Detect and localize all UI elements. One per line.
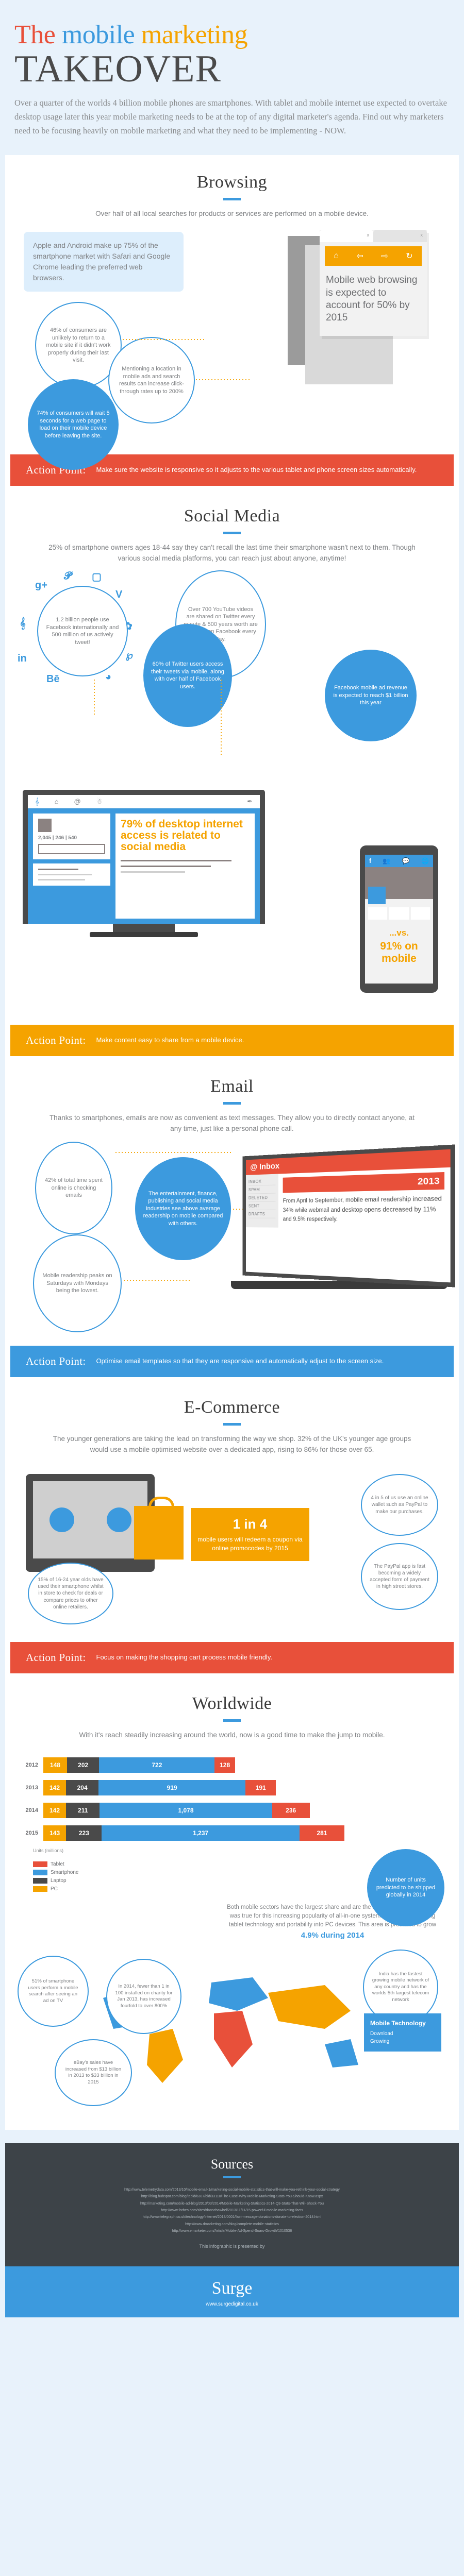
facebook-f-icon: f bbox=[369, 857, 371, 865]
twitter-sidebar: 2,045 | 246 | 540 bbox=[33, 814, 110, 919]
divider-rule bbox=[223, 532, 241, 534]
legend-swatch bbox=[33, 1878, 47, 1884]
source-item[interactable]: http://blog.hubspot.com/blog/tabid/6307/… bbox=[23, 2193, 441, 2200]
chart-row: 2013142204919191 bbox=[21, 1780, 443, 1795]
monitor-screen: 𝄞 ⌂ @ ☃ ✒ 2,045 | 246 | 540 bbox=[28, 795, 260, 924]
page-title: The mobile marketing bbox=[14, 20, 450, 50]
social-subtitle: 25% of smartphone owners ages 18-44 say … bbox=[46, 543, 418, 564]
messages-icon[interactable]: 💬 bbox=[402, 857, 410, 865]
linkedin-icon: in bbox=[18, 653, 27, 665]
mobile-social-stat: ...vs. 91% on mobile bbox=[365, 923, 433, 973]
bubble-industries: The entertainment, finance, publishing a… bbox=[135, 1157, 231, 1260]
chart-year-label: 2014 bbox=[21, 1807, 43, 1814]
chart-segment-mobile-phone: 1,237 bbox=[102, 1825, 299, 1841]
section-ecommerce: E-Commerce The younger generations are t… bbox=[5, 1380, 459, 1676]
action-text: Focus on making the shopping cart proces… bbox=[96, 1653, 273, 1663]
monitor-base bbox=[90, 932, 198, 937]
connector-dots bbox=[221, 679, 222, 756]
vimeo-icon: V bbox=[115, 589, 122, 601]
trend-line bbox=[38, 869, 78, 870]
inbox-folders: INBOX SPAM DELETED SENT DRAFTS bbox=[246, 1174, 278, 1228]
divider-rule bbox=[223, 2176, 241, 2178]
avatar bbox=[368, 887, 386, 904]
chart-year-label: 2013 bbox=[21, 1785, 43, 1791]
section-email: Email Thanks to smartphones, emails are … bbox=[5, 1059, 459, 1380]
compose-icon[interactable]: ✒ bbox=[247, 798, 253, 806]
email-title: Email bbox=[5, 1077, 459, 1096]
twitter-content: 2,045 | 246 | 540 79% of de bbox=[28, 808, 260, 924]
email-subtitle: Thanks to smartphones, emails are now as… bbox=[46, 1113, 418, 1134]
action-text: Optimise email templates so that they ar… bbox=[96, 1357, 384, 1366]
pinterest-p-icon: ℘ bbox=[126, 649, 133, 662]
folder-inbox[interactable]: INBOX bbox=[248, 1177, 276, 1186]
avatar bbox=[107, 1507, 131, 1532]
divider-rule bbox=[223, 1423, 241, 1426]
bubble-charity-donations: In 2014, fewer than 1 in 100 installed o… bbox=[106, 1959, 181, 2034]
callout-text: mobile users will redeem a coupon via on… bbox=[197, 1535, 303, 1553]
action-point-social: Action Point: Make content easy to share… bbox=[10, 1025, 454, 1056]
feed-line bbox=[121, 860, 231, 861]
camera-button[interactable] bbox=[389, 907, 408, 920]
brand-url[interactable]: www.surgedigital.co.uk bbox=[15, 2301, 449, 2307]
chart-segment-tablet: 236 bbox=[272, 1803, 310, 1818]
ecommerce-heading: E-Commerce The younger generations are t… bbox=[5, 1380, 459, 1455]
mt-row-label: Growing bbox=[370, 2039, 389, 2044]
header: The mobile marketing TAKEOVER Over a qua… bbox=[0, 0, 464, 155]
sources-footer: This infographic is presented by bbox=[23, 2244, 441, 2249]
legend-swatch bbox=[33, 1886, 47, 1892]
chart-segment-mobile-phone: 722 bbox=[99, 1757, 214, 1773]
browser-share-note: Apple and Android make up 75% of the sma… bbox=[24, 232, 184, 292]
chart-segment-ultramobile: 204 bbox=[66, 1780, 98, 1795]
friends-button[interactable] bbox=[411, 907, 430, 920]
bubble-51-percent: 51% of smartphone users perform a mobile… bbox=[18, 1956, 89, 2027]
mt-row: Growing bbox=[370, 2038, 435, 2045]
phone-screen: f 👥 💬 🌐 ...vs. 91% bbox=[365, 855, 433, 984]
sources-title: Sources bbox=[23, 2157, 441, 2172]
monitor-stand bbox=[113, 924, 175, 932]
feed-line bbox=[121, 871, 185, 873]
friends-icon[interactable]: 👥 bbox=[383, 857, 390, 865]
brand-footer: Surge www.surgedigital.co.uk bbox=[5, 2266, 459, 2317]
device-comparison: 𝄞 ⌂ @ ☃ ✒ 2,045 | 246 | 540 bbox=[5, 790, 459, 1011]
intro-paragraph: Over a quarter of the worlds 4 billion m… bbox=[14, 96, 448, 138]
callout-1-in-4: 1 in 4 mobile users will redeem a coupon… bbox=[191, 1508, 309, 1561]
forward-arrow-icon[interactable]: ⇨ bbox=[381, 251, 388, 261]
inbox-body-text: From April to September, mobile email re… bbox=[283, 1194, 444, 1225]
folder-deleted[interactable]: DELETED bbox=[248, 1194, 276, 1202]
compose-box[interactable] bbox=[38, 844, 105, 854]
chart-bar-group: 1422111,078236 bbox=[43, 1803, 310, 1818]
chart-segment-tablet: 128 bbox=[214, 1757, 235, 1773]
mt-row-label: Download bbox=[370, 2031, 393, 2037]
legend-swatch bbox=[33, 1870, 47, 1875]
social-body: 𝄞 g+ 𝓟 ▢ V ✿ ℘ in Bē ◕ 1.2 billion peopl… bbox=[5, 567, 459, 789]
chart-year-label: 2012 bbox=[21, 1762, 43, 1768]
dribbble-icon: ◕ bbox=[105, 671, 111, 683]
folder-sent[interactable]: SENT bbox=[248, 1202, 276, 1210]
divider-rule bbox=[223, 1719, 241, 1722]
googleplus-icon: g+ bbox=[35, 580, 47, 591]
title-word-the: The bbox=[14, 20, 55, 49]
connector-dots bbox=[123, 1280, 190, 1281]
bubble-74-percent: 74% of consumers will wait 5 seconds for… bbox=[28, 379, 119, 470]
chart-segment-traditional-pc: 142 bbox=[43, 1803, 66, 1818]
legend-label: Tablet bbox=[51, 1861, 64, 1867]
bubble-online-wallet: 4 in 5 of us use an online wallet such a… bbox=[361, 1474, 438, 1536]
vs-label: ...vs. bbox=[367, 928, 431, 938]
browsing-subtitle: Over half of all local searches for prod… bbox=[46, 209, 418, 219]
action-text: Make sure the website is responsive so i… bbox=[96, 465, 417, 475]
browser-tab-active[interactable]: x bbox=[320, 230, 373, 242]
shopping-bag-icon bbox=[134, 1506, 184, 1560]
mt-title: Mobile Technology bbox=[370, 2020, 435, 2027]
connector-dots bbox=[114, 1152, 233, 1153]
action-label: Action Point: bbox=[26, 1651, 86, 1664]
chart-row: 20151432231,237281 bbox=[21, 1825, 443, 1841]
page-title-takeover: TAKEOVER bbox=[14, 51, 450, 87]
title-word-marketing: marketing bbox=[141, 20, 247, 49]
mt-row: Download bbox=[370, 2030, 435, 2038]
worldwide-body: 2012148202722128201314220491919120141422… bbox=[5, 1741, 459, 2127]
chart-segment-mobile-phone: 1,078 bbox=[100, 1803, 272, 1818]
facebook-toolbar: f 👥 💬 🌐 bbox=[365, 855, 433, 867]
trend-line bbox=[38, 879, 85, 880]
twitter-feed: 79% of desktop internet access is relate… bbox=[115, 814, 255, 919]
mobile-phone: f 👥 💬 🌐 ...vs. 91% bbox=[360, 845, 438, 993]
action-label: Action Point: bbox=[26, 1034, 86, 1047]
section-social: Social Media 25% of smartphone owners ag… bbox=[5, 489, 459, 1059]
ecommerce-body: 15% of 16-24 year olds have used their s… bbox=[5, 1459, 459, 1629]
brand-name: Surge bbox=[15, 2279, 449, 2298]
browser-toolbar: ⌂ ⇦ ⇨ ↻ bbox=[325, 246, 422, 266]
legend-label: PC bbox=[51, 1886, 58, 1892]
phones-screen bbox=[33, 1481, 147, 1558]
world-map-area: 51% of smartphone users perform a mobile… bbox=[5, 1946, 459, 2116]
folder-spam[interactable]: SPAM bbox=[248, 1185, 276, 1194]
source-item[interactable]: http://www.emarketer.com/Article/Mobile-… bbox=[23, 2228, 441, 2234]
browser-tab-inactive[interactable]: x bbox=[373, 230, 427, 242]
monitor-frame: 𝄞 ⌂ @ ☃ ✒ 2,045 | 246 | 540 bbox=[23, 790, 265, 924]
bubble-units-shipped: Number of units predicted to be shipped … bbox=[367, 1849, 444, 1926]
action-text: Make content easy to share from a mobile… bbox=[96, 1036, 244, 1045]
legend-swatch bbox=[33, 1861, 47, 1867]
bubble-200-percent: Mentioning a location in mobile ads and … bbox=[108, 337, 195, 423]
action-point-ecommerce: Action Point: Focus on making the shoppi… bbox=[10, 1642, 454, 1673]
source-item[interactable]: http://www.forbes.com/sites/danschawbel/… bbox=[23, 2207, 441, 2214]
at-icon: @ bbox=[250, 1162, 257, 1172]
globe-icon[interactable]: 🌐 bbox=[421, 857, 429, 865]
chart-segment-traditional-pc: 142 bbox=[43, 1780, 66, 1795]
infographic-page: The mobile marketing TAKEOVER Over a qua… bbox=[0, 0, 464, 2317]
source-item[interactable]: http://www.telemetrydata.com/2013/10/mob… bbox=[23, 2187, 441, 2193]
worldwide-subtitle: With it's reach steadily increasing arou… bbox=[46, 1730, 418, 1741]
ecommerce-subtitle: The younger generations are taking the l… bbox=[46, 1434, 418, 1455]
facebook-cover bbox=[365, 867, 433, 899]
chart-segment-tablet: 281 bbox=[300, 1825, 344, 1841]
chart-bar-group: 1432231,237281 bbox=[43, 1825, 344, 1841]
chart-segment-ultramobile: 211 bbox=[66, 1803, 100, 1818]
avatar bbox=[49, 1507, 74, 1532]
fact-highlight: 4.9% during 2014 bbox=[222, 1930, 443, 1942]
bubble-15-percent: 15% of 16-24 year olds have used their s… bbox=[28, 1563, 113, 1624]
bubble-42-percent: 42% of total time spent online is checki… bbox=[35, 1142, 112, 1234]
browser-illustration: x x ⌂ ⇦ ⇨ ↻ Mobile web browsing is expec… bbox=[273, 225, 443, 431]
pinterest-icon: 𝓟 bbox=[64, 570, 71, 582]
mentions-icon[interactable]: @ bbox=[74, 798, 81, 805]
profile-card: 2,045 | 246 | 540 bbox=[33, 814, 110, 859]
laptop-lid: @ Inbox INBOX SPAM DELETED SENT DRAFTS bbox=[242, 1144, 455, 1287]
trend-line bbox=[38, 874, 92, 875]
divider-rule bbox=[223, 198, 241, 200]
folder-drafts[interactable]: DRAFTS bbox=[248, 1210, 276, 1218]
sources-section: Sources http://www.telemetrydata.com/201… bbox=[5, 2143, 459, 2266]
chart-segment-mobile-phone: 919 bbox=[98, 1780, 245, 1795]
shipments-chart: 2012148202722128201314220491919120141422… bbox=[21, 1757, 443, 1841]
twitter-icon: 𝄞 bbox=[20, 618, 26, 630]
chart-row: 20141422111,078236 bbox=[21, 1803, 443, 1818]
source-item[interactable]: http://marketing.com/mobile-ad-blog/2013… bbox=[23, 2200, 441, 2207]
section-browsing: Browsing Over half of all local searches… bbox=[5, 155, 459, 489]
source-item[interactable]: http://www.telegraph.co.uk/technology/in… bbox=[23, 2214, 441, 2221]
browser-tabs: x x bbox=[320, 230, 427, 242]
email-body: 42% of total time spent online is checki… bbox=[5, 1137, 459, 1332]
action-label: Action Point: bbox=[26, 1355, 86, 1368]
feed-line bbox=[121, 866, 211, 867]
connector-dots bbox=[195, 379, 252, 380]
add-friend-button[interactable] bbox=[368, 907, 387, 920]
browsing-title: Browsing bbox=[5, 173, 459, 192]
worldwide-title: Worldwide bbox=[5, 1694, 459, 1714]
browsing-body: Apple and Android make up 75% of the sma… bbox=[5, 225, 459, 441]
divider-rule bbox=[223, 1102, 241, 1105]
desktop-social-stat: 79% of desktop internet access is relate… bbox=[121, 819, 250, 853]
bubble-fb-ad-revenue: Facebook mobile ad revenue is expected t… bbox=[325, 650, 417, 741]
legend-label: Laptop bbox=[51, 1878, 67, 1884]
inbox-year-badge: 2013 bbox=[283, 1172, 444, 1193]
legend-label: Smartphone bbox=[51, 1870, 78, 1875]
avatar bbox=[38, 819, 52, 832]
connector-dots bbox=[94, 679, 95, 717]
back-arrow-icon[interactable]: ⇦ bbox=[356, 251, 363, 261]
tweet-counts: 2,045 | 246 | 540 bbox=[38, 835, 105, 841]
chart-bar-group: 142204919191 bbox=[43, 1780, 276, 1795]
bubble-ebay-sales: eBay's sales have increased from $13 bil… bbox=[55, 2039, 132, 2106]
mobile-technology-box: Mobile Technology Download Growing bbox=[364, 2013, 441, 2052]
bubble-twitter-mobile: 60% of Twitter users access their tweets… bbox=[143, 624, 232, 727]
twitter-bird-icon: 𝄞 bbox=[35, 798, 39, 806]
home-icon[interactable]: ⌂ bbox=[334, 251, 339, 261]
twitter-toolbar: 𝄞 ⌂ @ ☃ ✒ bbox=[28, 795, 260, 808]
desktop-monitor: 𝄞 ⌂ @ ☃ ✒ 2,045 | 246 | 540 bbox=[23, 790, 265, 937]
home-icon[interactable]: ⌂ bbox=[55, 798, 59, 805]
chart-segment-traditional-pc: 148 bbox=[43, 1757, 67, 1773]
chart-segment-ultramobile: 223 bbox=[66, 1825, 102, 1841]
refresh-icon[interactable]: ↻ bbox=[406, 251, 412, 261]
browser-window: x x ⌂ ⇦ ⇨ ↻ Mobile web browsing is expec… bbox=[320, 230, 427, 335]
chart-segment-tablet: 191 bbox=[245, 1780, 276, 1795]
laptop-illustration: @ Inbox INBOX SPAM DELETED SENT DRAFTS bbox=[231, 1151, 448, 1289]
sources-list: http://www.telemetrydata.com/2013/10/mob… bbox=[23, 2187, 441, 2234]
browser-message: Mobile web browsing is expected to accou… bbox=[320, 270, 427, 335]
browsing-heading: Browsing Over half of all local searches… bbox=[5, 155, 459, 219]
ecommerce-title: E-Commerce bbox=[5, 1398, 459, 1417]
social-heading: Social Media 25% of smartphone owners ag… bbox=[5, 489, 459, 564]
email-heading: Email Thanks to smartphones, emails are … bbox=[5, 1059, 459, 1134]
mobile-stat-value: 91% on mobile bbox=[367, 940, 431, 965]
instagram-icon: ▢ bbox=[92, 570, 102, 583]
bubble-readership-peak: Mobile readership peaks on Saturdays wit… bbox=[33, 1234, 122, 1332]
source-item[interactable]: http://www.dmarketing.com/blog/complete-… bbox=[23, 2221, 441, 2228]
chart-segment-ultramobile: 202 bbox=[67, 1757, 100, 1773]
trends-card bbox=[33, 863, 110, 886]
title-word-mobile: mobile bbox=[62, 20, 135, 49]
connector-dots bbox=[122, 339, 204, 340]
chart-row: 2012148202722128 bbox=[21, 1757, 443, 1773]
chart-year-label: 2015 bbox=[21, 1830, 43, 1836]
laptop-screen: @ Inbox INBOX SPAM DELETED SENT DRAFTS bbox=[246, 1149, 451, 1283]
bubble-facebook-users: 1.2 billion people use Facebook internat… bbox=[37, 586, 128, 676]
action-point-email: Action Point: Optimise email templates s… bbox=[10, 1346, 454, 1377]
bubble-paypal-app: The PayPal app is fast becoming a widely… bbox=[361, 1543, 438, 1610]
section-worldwide: Worldwide With it's reach steadily incre… bbox=[5, 1676, 459, 2130]
profile-icon[interactable]: ☃ bbox=[96, 798, 103, 806]
inbox-title: Inbox bbox=[259, 1161, 279, 1172]
callout-value: 1 in 4 bbox=[197, 1516, 303, 1532]
chart-segment-traditional-pc: 143 bbox=[43, 1825, 66, 1841]
worldwide-heading: Worldwide With it's reach steadily incre… bbox=[5, 1676, 459, 1741]
behance-icon: Bē bbox=[46, 673, 60, 685]
social-title: Social Media bbox=[5, 506, 459, 526]
inbox-content: 2013 From April to September, mobile ema… bbox=[278, 1167, 451, 1230]
chart-bar-group: 148202722128 bbox=[43, 1757, 235, 1773]
